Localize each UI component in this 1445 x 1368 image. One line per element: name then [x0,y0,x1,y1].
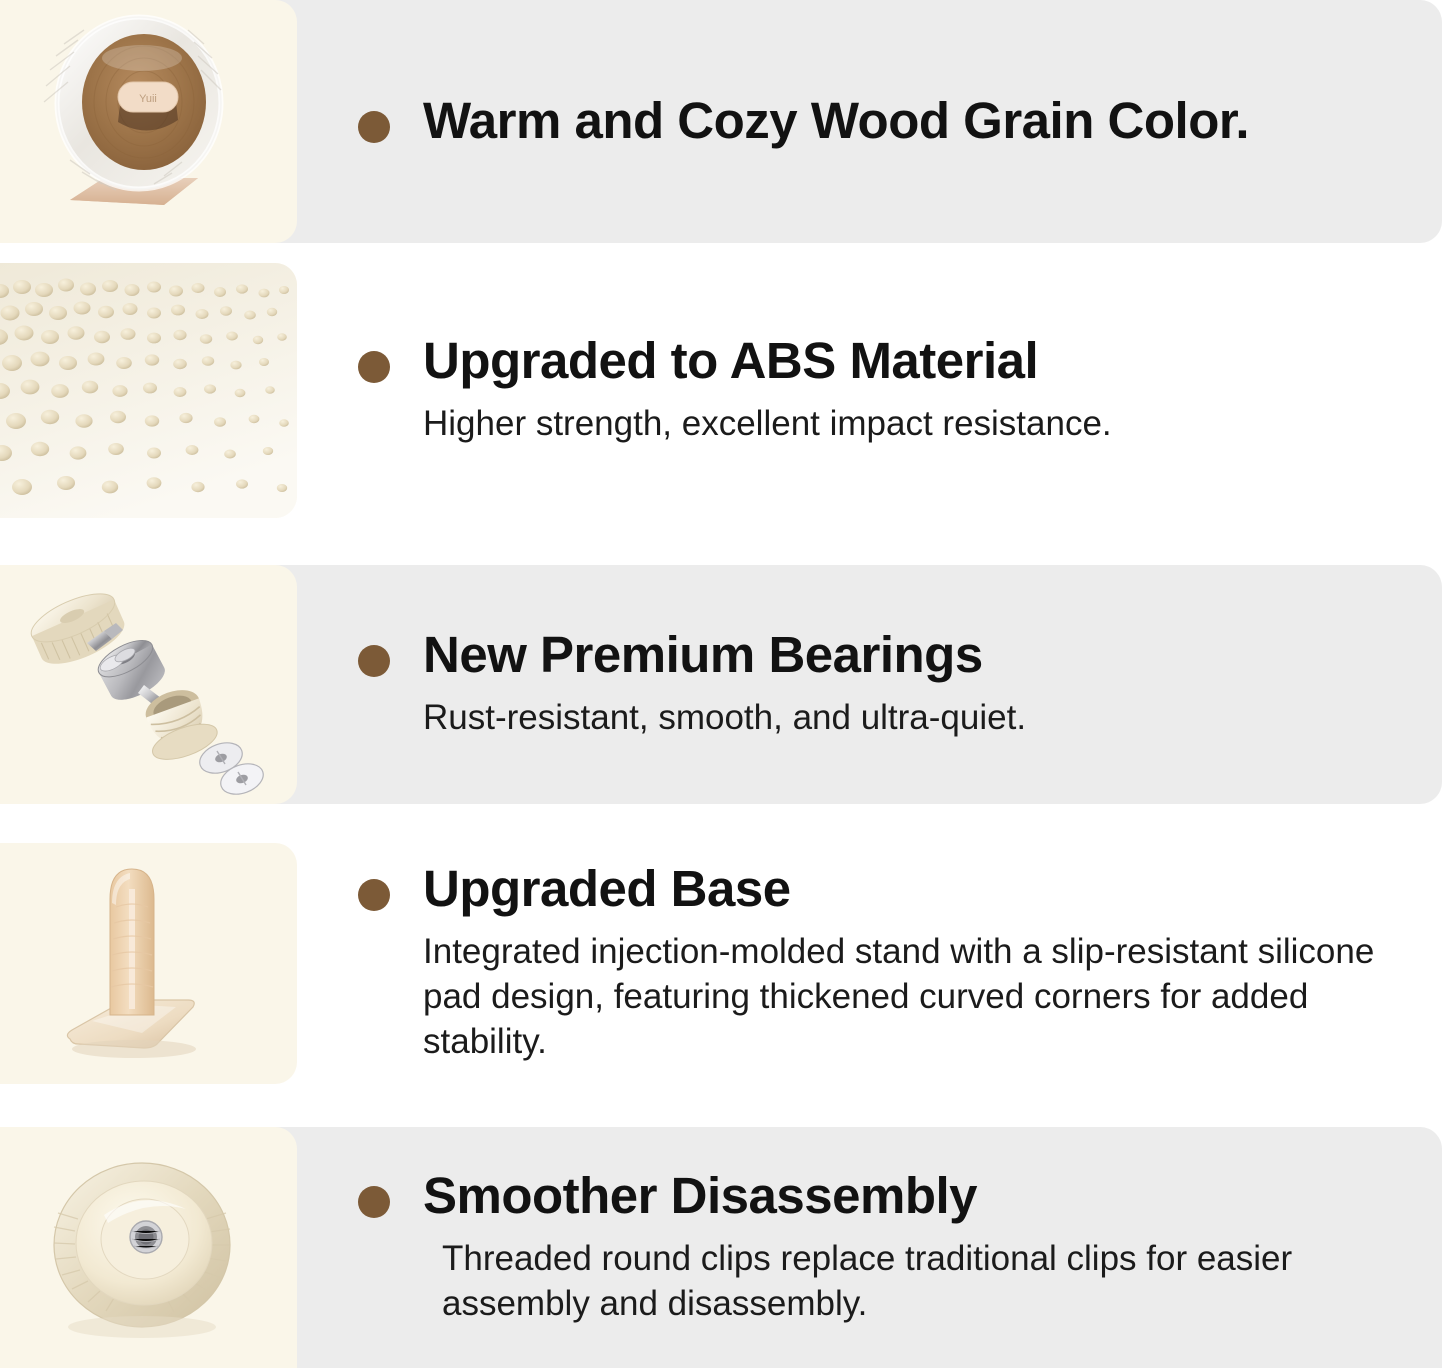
feature-text-column: Upgraded to ABS Material Higher strength… [358,263,1425,518]
wheel-on-stand-wood-grain-image: Yuii [0,0,297,243]
feature-image-card [0,1127,297,1368]
feature-description: Rust-resistant, smooth, and ultra-quiet. [423,696,1425,741]
feature-list-page: Yuii Warm and Cozy Wood Grain Color. [0,0,1445,1368]
feature-row: Smoother Disassembly Threaded round clip… [0,1127,1445,1368]
feature-heading-line: Smoother Disassembly [358,1169,1425,1223]
feature-description: Integrated injection-molded stand with a… [423,930,1425,1064]
feature-heading-line: Warm and Cozy Wood Grain Color. [358,94,1425,148]
feature-text-column: Smoother Disassembly Threaded round clip… [358,1127,1425,1368]
svg-text:Yuii: Yuii [139,93,157,105]
feature-heading-line: Upgraded Base [358,862,1425,916]
feature-heading-line: Upgraded to ABS Material [358,334,1425,388]
feature-row: Upgraded Base Integrated injection-molde… [0,843,1445,1084]
feature-image-card [0,843,297,1084]
injection-molded-stand-image [0,843,297,1084]
exploded-bearing-assembly-image [0,565,297,804]
abs-resin-pellets-image [0,263,297,518]
threaded-round-clip-wheel-image [0,1127,297,1368]
feature-text-column: Warm and Cozy Wood Grain Color. [358,0,1425,243]
feature-heading: Upgraded to ABS Material [423,334,1038,388]
bullet-icon [358,1186,390,1218]
feature-heading: Upgraded Base [423,862,791,916]
feature-text-column: Upgraded Base Integrated injection-molde… [358,843,1425,1084]
feature-description: Threaded round clips replace traditional… [442,1237,1382,1327]
bullet-icon [358,111,390,143]
feature-row: New Premium Bearings Rust-resistant, smo… [0,565,1445,804]
feature-heading: Warm and Cozy Wood Grain Color. [423,94,1249,148]
bullet-icon [358,351,390,383]
feature-heading: New Premium Bearings [423,628,983,682]
feature-image-card: Yuii [0,0,297,243]
feature-description: Higher strength, excellent impact resist… [423,402,1425,447]
feature-row: Upgraded to ABS Material Higher strength… [0,263,1445,518]
feature-heading: Smoother Disassembly [423,1169,977,1223]
bullet-icon [358,879,390,911]
feature-image-card [0,565,297,804]
feature-row: Yuii Warm and Cozy Wood Grain Color. [0,0,1445,243]
feature-heading-line: New Premium Bearings [358,628,1425,682]
feature-text-column: New Premium Bearings Rust-resistant, smo… [358,565,1425,804]
bullet-icon [358,645,390,677]
feature-image-card [0,263,297,518]
